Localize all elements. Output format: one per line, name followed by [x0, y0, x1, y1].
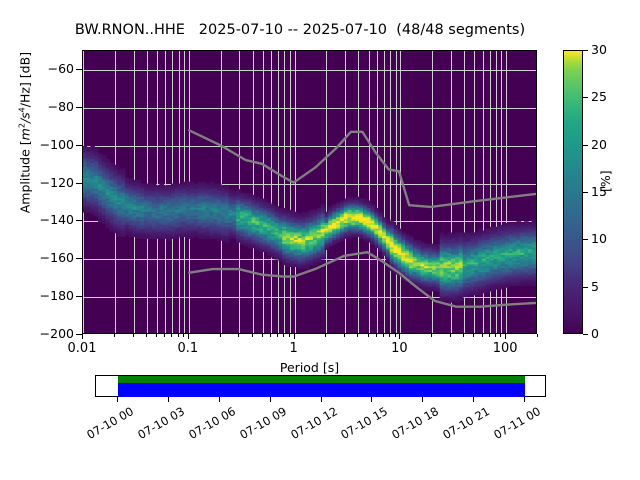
timeline-tick-label: 07-10 15 [339, 404, 391, 442]
x-axis-tick [171, 334, 172, 337]
timeline-tick-label: 07-10 18 [390, 404, 442, 442]
timeline-tick [117, 397, 118, 402]
data-coverage-timeline[interactable] [95, 375, 546, 397]
x-axis-tick [376, 334, 377, 337]
x-axis-tick [82, 334, 83, 339]
x-axis-tick [183, 334, 184, 337]
x-axis-tick [473, 334, 474, 337]
x-axis-tick [283, 334, 284, 337]
timeline-tick-label: 07-10 09 [237, 404, 289, 442]
timeline-tick [422, 397, 423, 402]
timeline-tick-label: 07-10 12 [288, 404, 340, 442]
x-axis-tick [395, 334, 396, 337]
ppsd-histogram-cell [325, 247, 330, 250]
x-axis-tick [277, 334, 278, 337]
x-axis-title: Period [s] [82, 360, 537, 375]
x-axis-tick [389, 334, 390, 337]
colorbar-tick-label: 0 [591, 326, 599, 341]
ppsd-histogram-cell [459, 298, 464, 301]
x-axis-tick-label: 0.1 [158, 341, 218, 356]
colorbar-tick-label: 30 [591, 42, 607, 57]
y-axis-tick [76, 107, 82, 108]
y-axis-tick-label: −200 [14, 326, 74, 341]
timeline-tick [473, 397, 474, 402]
colorbar-tick-label: 10 [591, 231, 607, 246]
colorbar-tick [583, 50, 588, 51]
x-axis-tick [238, 334, 239, 337]
timeline-tick-label: 07-10 03 [135, 404, 187, 442]
x-axis-tick [294, 334, 295, 339]
ppsd-histogram-cell [317, 261, 322, 264]
ppsd-histogram-cell [321, 257, 326, 260]
colorbar-tick-label: 5 [591, 279, 599, 294]
x-axis-tick [482, 334, 483, 337]
page-title: BW.RNON..HHE 2025-07-10 -- 2025-07-10 (4… [0, 22, 600, 38]
x-axis-tick [252, 334, 253, 337]
y-axis-title: Amplitude [m2/s4/Hz] [dB] [17, 0, 32, 275]
y-axis-tick [76, 258, 82, 259]
colorbar-tick [583, 192, 588, 193]
colorbar-tick-label: 25 [591, 89, 607, 104]
x-axis-tick [325, 334, 326, 337]
x-axis-tick [146, 334, 147, 337]
y-axis-tick [76, 69, 82, 70]
y-axis-tick [76, 220, 82, 221]
x-axis-tick [489, 334, 490, 337]
colorbar-title: [%] [598, 170, 613, 192]
timeline-tick-label: 07-10 00 [84, 404, 136, 442]
x-axis-tick [164, 334, 165, 337]
colorbar-tick [583, 334, 588, 335]
colorbar-tick [583, 145, 588, 146]
y-axis-tick [76, 145, 82, 146]
coverage-bar-green [118, 376, 525, 383]
x-axis-tick [450, 334, 451, 337]
y-axis-tick [76, 183, 82, 184]
x-axis-tick [368, 334, 369, 337]
ppsd-data-layer [83, 51, 536, 333]
x-axis-tick [289, 334, 290, 337]
colorbar[interactable] [563, 50, 583, 334]
x-axis-tick [178, 334, 179, 337]
timeline-tick [524, 397, 525, 402]
x-axis-tick [156, 334, 157, 337]
timeline-tick [219, 397, 220, 402]
colorbar-tick-label: 20 [591, 137, 607, 152]
x-axis-tick-label: 100 [475, 341, 535, 356]
colorbar-tick [583, 239, 588, 240]
x-axis-tick [114, 334, 115, 337]
y-axis-tick [76, 296, 82, 297]
x-axis-tick-label: 10 [369, 341, 429, 356]
y-axis-tick-label: −180 [14, 288, 74, 303]
x-axis-tick [262, 334, 263, 337]
x-axis-tick [344, 334, 345, 337]
x-axis-tick [537, 334, 538, 337]
timeline-tick-label: 07-10 21 [440, 404, 492, 442]
x-axis-tick [383, 334, 384, 337]
x-axis-tick [133, 334, 134, 337]
x-axis-tick [495, 334, 496, 337]
timeline-tick [270, 397, 271, 402]
x-axis-tick [188, 334, 189, 339]
timeline-tick-label: 07-11 00 [491, 404, 543, 442]
timeline-tick-label: 07-10 06 [186, 404, 238, 442]
colorbar-tick [583, 97, 588, 98]
x-axis-tick [357, 334, 358, 337]
ppsd-histogram-cell [225, 240, 230, 243]
x-axis-tick [399, 334, 400, 339]
x-axis-tick [270, 334, 271, 337]
x-axis-tick-label: 0.01 [52, 341, 112, 356]
x-axis-tick [500, 334, 501, 337]
x-axis-tick [505, 334, 506, 339]
x-axis-tick [431, 334, 432, 337]
coverage-bar-blue [118, 383, 525, 397]
x-axis-tick [220, 334, 221, 337]
ppsd-histogram-cell [532, 283, 536, 286]
ppsd-plot-area[interactable] [82, 50, 537, 334]
x-axis-tick [463, 334, 464, 337]
timeline-tick [321, 397, 322, 402]
timeline-tick [371, 397, 372, 402]
ppsd-histogram-cell [305, 266, 310, 269]
colorbar-tick [583, 287, 588, 288]
ppsd-figure: BW.RNON..HHE 2025-07-10 -- 2025-07-10 (4… [0, 0, 640, 480]
timeline-tick [168, 397, 169, 402]
x-axis-tick-label: 1 [264, 341, 324, 356]
